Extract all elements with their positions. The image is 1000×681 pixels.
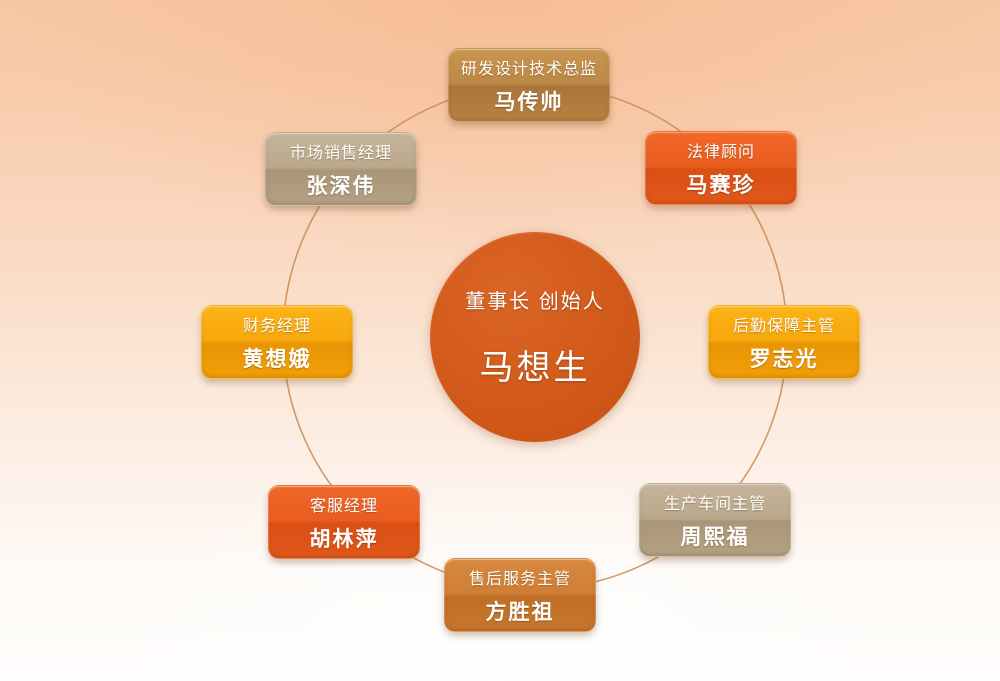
node-name-label: 罗志光 [750,343,819,373]
node-finance-manager[interactable]: 财务经理 黄想娥 [201,305,353,379]
node-name-label: 周熙福 [681,521,750,551]
node-role-label: 研发设计技术总监 [461,55,597,79]
center-name-label: 马想生 [480,340,591,389]
node-role-label: 售后服务主管 [469,565,571,589]
node-sales-manager[interactable]: 市场销售经理 张深伟 [265,132,417,206]
node-name-label: 方胜祖 [486,596,555,626]
node-role-label: 后勤保障主管 [733,312,835,336]
center-node[interactable]: 董事长 创始人 马想生 [430,232,640,442]
node-rd-director[interactable]: 研发设计技术总监 马传帅 [448,48,610,122]
node-customer-service-manager[interactable]: 客服经理 胡林萍 [268,485,420,559]
node-legal-advisor[interactable]: 法律顾问 马赛珍 [645,131,797,205]
node-role-label: 客服经理 [310,492,378,516]
node-name-label: 马传帅 [495,86,564,116]
node-role-label: 生产车间主管 [664,490,766,514]
center-role-label: 董事长 创始人 [465,285,605,314]
node-name-label: 胡林萍 [310,523,379,553]
node-name-label: 黄想娥 [243,343,312,373]
node-production-supervisor[interactable]: 生产车间主管 周熙福 [639,483,791,557]
node-logistics-supervisor[interactable]: 后勤保障主管 罗志光 [708,305,860,379]
node-role-label: 法律顾问 [687,138,755,162]
org-chart-canvas: 董事长 创始人 马想生 研发设计技术总监 马传帅 法律顾问 马赛珍 后勤保障主管… [0,0,1000,681]
node-after-sales-supervisor[interactable]: 售后服务主管 方胜祖 [444,558,596,632]
node-name-label: 马赛珍 [687,169,756,199]
node-role-label: 财务经理 [243,312,311,336]
node-name-label: 张深伟 [307,170,376,200]
node-role-label: 市场销售经理 [290,139,392,163]
